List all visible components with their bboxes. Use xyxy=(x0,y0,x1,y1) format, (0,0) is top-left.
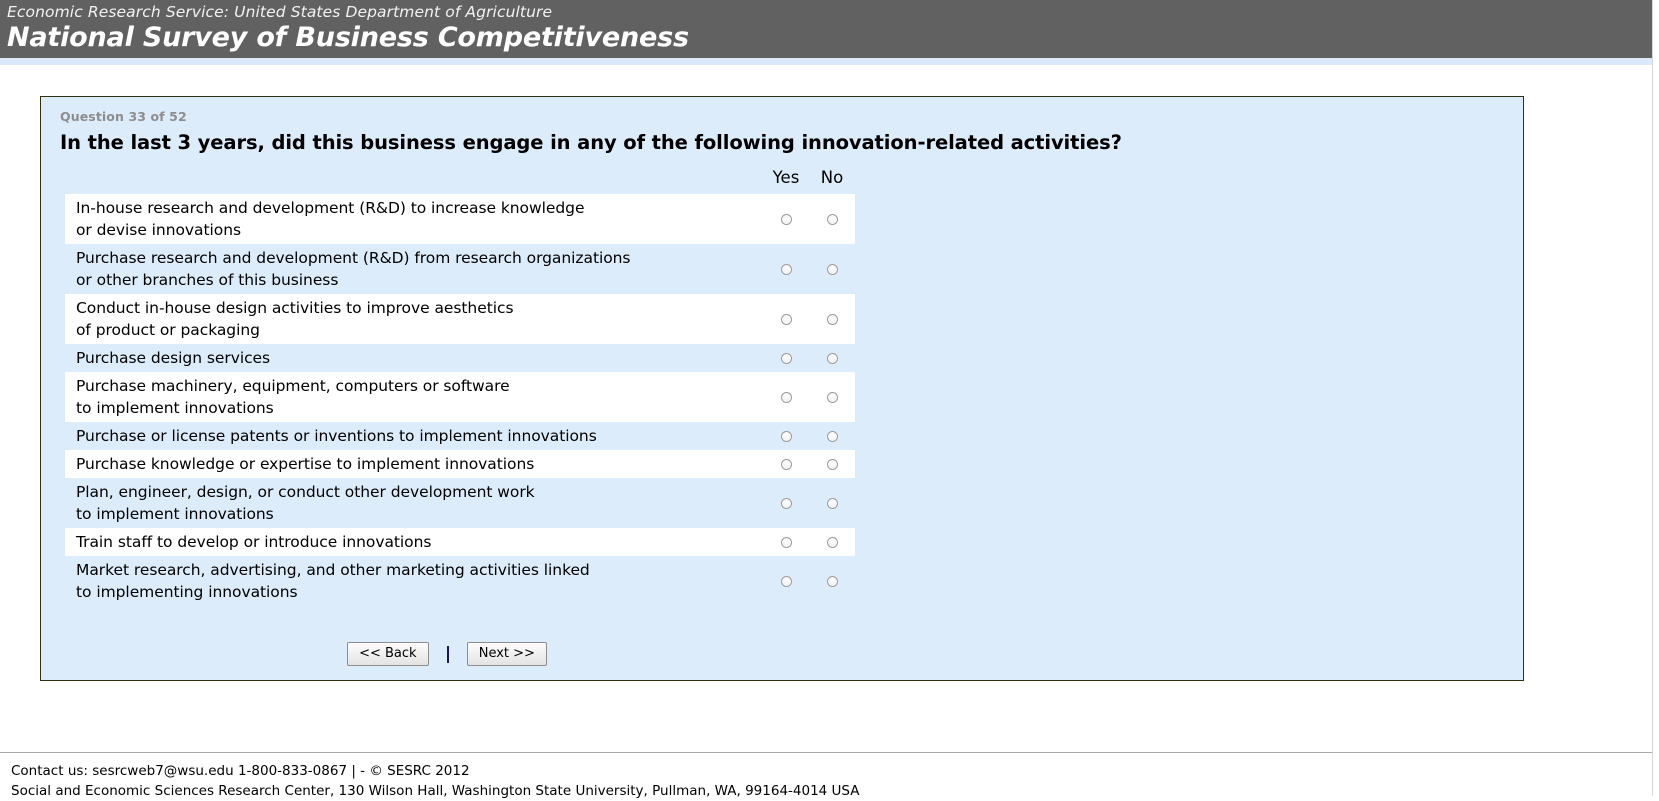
page-scrollbar[interactable] xyxy=(1652,0,1659,796)
answer-option-cell-yes[interactable] xyxy=(763,344,809,372)
answer-row-label: Market research, advertising, and other … xyxy=(65,556,763,606)
answer-option-cell-no[interactable] xyxy=(809,450,855,478)
radio-no[interactable] xyxy=(827,459,838,470)
radio-yes[interactable] xyxy=(781,392,792,403)
answer-row-label: Purchase design services xyxy=(65,344,763,372)
answer-grid-row: Purchase design services xyxy=(65,344,855,372)
answer-row-label: Purchase or license patents or invention… xyxy=(65,422,763,450)
answer-option-cell-no[interactable] xyxy=(809,372,855,422)
navigation-row: << Back Next >> xyxy=(41,642,1523,666)
radio-yes[interactable] xyxy=(781,214,792,225)
answer-grid-wrapper: Yes No In-house research and development… xyxy=(41,168,1523,606)
footer-address-line: Social and Economic Sciences Research Ce… xyxy=(0,782,1652,801)
column-header-no: No xyxy=(809,168,855,194)
answer-option-cell-no[interactable] xyxy=(809,422,855,450)
answer-option-cell-yes[interactable] xyxy=(763,478,809,528)
answer-option-cell-no[interactable] xyxy=(809,478,855,528)
answer-option-cell-yes[interactable] xyxy=(763,450,809,478)
answer-grid: Yes No In-house research and development… xyxy=(65,168,855,606)
answer-grid-row: Market research, advertising, and other … xyxy=(65,556,855,606)
answer-option-cell-yes[interactable] xyxy=(763,194,809,244)
radio-no[interactable] xyxy=(827,576,838,587)
radio-yes[interactable] xyxy=(781,576,792,587)
answer-option-cell-no[interactable] xyxy=(809,244,855,294)
answer-grid-row: Purchase research and development (R&D) … xyxy=(65,244,855,294)
survey-title: National Survey of Business Competitiven… xyxy=(0,21,1652,53)
radio-yes[interactable] xyxy=(781,353,792,364)
answer-grid-row: Purchase machinery, equipment, computers… xyxy=(65,372,855,422)
answer-option-cell-no[interactable] xyxy=(809,344,855,372)
answer-option-cell-no[interactable] xyxy=(809,294,855,344)
answer-grid-header-row: Yes No xyxy=(65,168,855,194)
answer-row-label: Conduct in-house design activities to im… xyxy=(65,294,763,344)
answer-row-label: In-house research and development (R&D) … xyxy=(65,194,763,244)
answer-option-cell-yes[interactable] xyxy=(763,528,809,556)
radio-no[interactable] xyxy=(827,214,838,225)
answer-row-label: Purchase machinery, equipment, computers… xyxy=(65,372,763,422)
radio-yes[interactable] xyxy=(781,264,792,275)
column-header-yes: Yes xyxy=(763,168,809,194)
answer-grid-row: Train staff to develop or introduce inno… xyxy=(65,528,855,556)
answer-option-cell-yes[interactable] xyxy=(763,372,809,422)
radio-no[interactable] xyxy=(827,392,838,403)
back-button[interactable]: << Back xyxy=(347,642,428,666)
page-footer: Contact us: sesrcweb7@wsu.edu 1-800-833-… xyxy=(0,752,1652,801)
footer-contact-line: Contact us: sesrcweb7@wsu.edu 1-800-833-… xyxy=(0,762,1652,782)
radio-no[interactable] xyxy=(827,353,838,364)
answer-row-label: Purchase research and development (R&D) … xyxy=(65,244,763,294)
answer-option-cell-no[interactable] xyxy=(809,194,855,244)
answer-grid-row: Plan, engineer, design, or conduct other… xyxy=(65,478,855,528)
radio-yes[interactable] xyxy=(781,498,792,509)
radio-no[interactable] xyxy=(827,498,838,509)
answer-row-label: Plan, engineer, design, or conduct other… xyxy=(65,478,763,528)
radio-no[interactable] xyxy=(827,537,838,548)
radio-yes[interactable] xyxy=(781,314,792,325)
answer-option-cell-yes[interactable] xyxy=(763,294,809,344)
radio-no[interactable] xyxy=(827,264,838,275)
answer-option-cell-no[interactable] xyxy=(809,556,855,606)
answer-grid-header: Yes No xyxy=(65,168,855,194)
site-header: Economic Research Service: United States… xyxy=(0,0,1652,58)
radio-yes[interactable] xyxy=(781,537,792,548)
answer-grid-body: In-house research and development (R&D) … xyxy=(65,194,855,606)
question-panel: Question 33 of 52 In the last 3 years, d… xyxy=(40,96,1524,681)
answer-option-cell-yes[interactable] xyxy=(763,556,809,606)
answer-grid-row: Conduct in-house design activities to im… xyxy=(65,294,855,344)
radio-no[interactable] xyxy=(827,431,838,442)
answer-option-cell-no[interactable] xyxy=(809,528,855,556)
answer-grid-row: In-house research and development (R&D) … xyxy=(65,194,855,244)
radio-no[interactable] xyxy=(827,314,838,325)
next-button[interactable]: Next >> xyxy=(467,642,547,666)
answer-option-cell-yes[interactable] xyxy=(763,244,809,294)
answer-grid-row: Purchase knowledge or expertise to imple… xyxy=(65,450,855,478)
answer-row-label: Train staff to develop or introduce inno… xyxy=(65,528,763,556)
navigation-separator-icon xyxy=(447,646,449,663)
header-accent-bar xyxy=(0,58,1652,65)
answer-grid-row: Purchase or license patents or invention… xyxy=(65,422,855,450)
agency-name: Economic Research Service: United States… xyxy=(0,0,1652,21)
radio-yes[interactable] xyxy=(781,459,792,470)
question-text: In the last 3 years, did this business e… xyxy=(41,124,1523,154)
content-area: Question 33 of 52 In the last 3 years, d… xyxy=(0,96,1652,681)
answer-option-cell-yes[interactable] xyxy=(763,422,809,450)
question-counter: Question 33 of 52 xyxy=(41,109,1523,124)
answer-row-label: Purchase knowledge or expertise to imple… xyxy=(65,450,763,478)
radio-yes[interactable] xyxy=(781,431,792,442)
column-header-label xyxy=(65,168,763,194)
